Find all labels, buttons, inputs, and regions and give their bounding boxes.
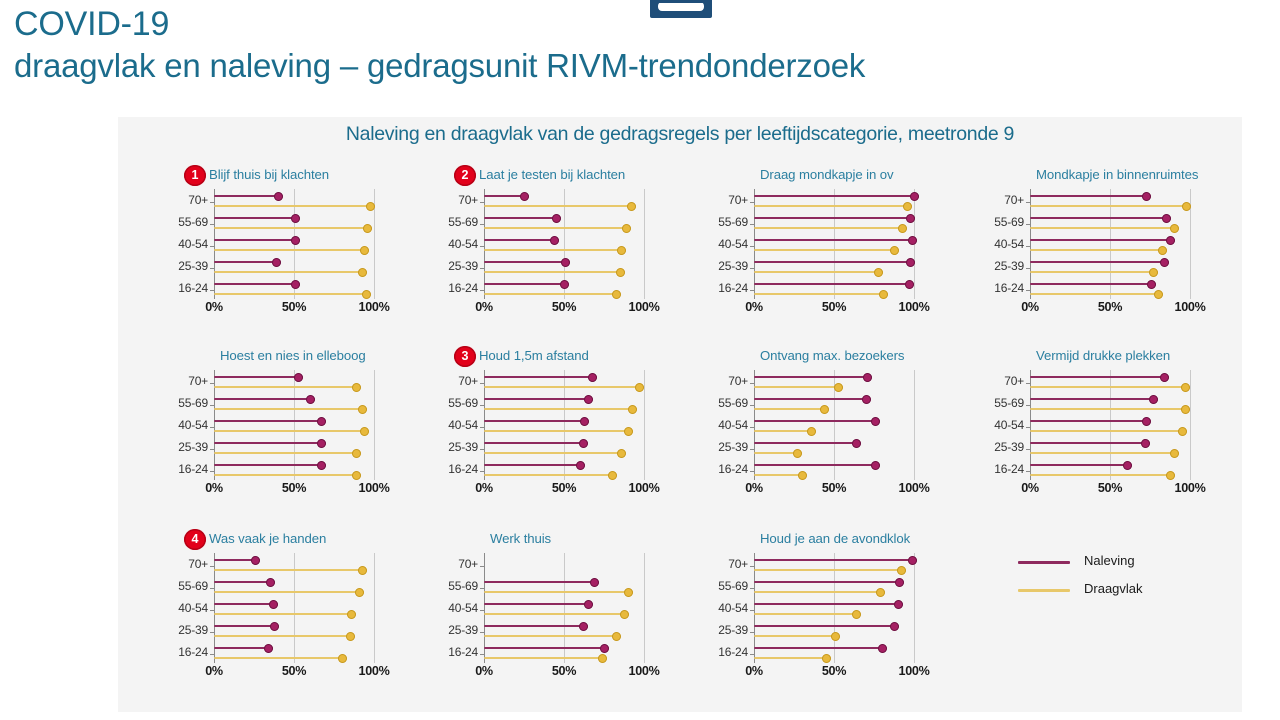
draagvlak-bar (754, 452, 797, 454)
naleving-bar (754, 195, 914, 197)
y-axis-tick (750, 202, 754, 203)
naleving-dot (291, 214, 300, 223)
panel-plot: 70+55-6940-5425-3916-240%50%100% (956, 189, 1224, 317)
naleving-bar (214, 581, 270, 583)
x-axis-label: 50% (812, 300, 856, 314)
y-axis-tick (750, 610, 754, 611)
naleving-dot (905, 280, 914, 289)
draagvlak-bar (754, 271, 879, 273)
y-axis-label: 40-54 (148, 418, 208, 432)
draagvlak-bar (754, 613, 856, 615)
y-axis-tick (480, 610, 484, 611)
draagvlak-bar (484, 271, 620, 273)
draagvlak-dot (358, 566, 367, 575)
naleving-dot (291, 280, 300, 289)
y-axis-label: 25-39 (964, 259, 1024, 273)
y-axis-label: 25-39 (964, 440, 1024, 454)
panel-plot: 70+55-6940-5425-3916-240%50%100% (140, 370, 408, 498)
draagvlak-dot (360, 246, 369, 255)
y-axis-label: 40-54 (418, 601, 478, 615)
naleving-bar (214, 559, 256, 561)
draagvlak-bar (214, 293, 366, 295)
y-axis-tick (750, 471, 754, 472)
y-axis-label: 16-24 (418, 645, 478, 659)
x-axis-label: 100% (1168, 300, 1212, 314)
draagvlak-bar (484, 293, 617, 295)
draagvlak-dot (617, 246, 626, 255)
draagvlak-dot (612, 632, 621, 641)
panel-header: Werk thuis (410, 529, 678, 553)
y-axis-tick (1026, 449, 1030, 450)
naleving-bar (214, 464, 321, 466)
naleving-bar (484, 398, 588, 400)
naleving-bar (484, 464, 580, 466)
panel-badge: 4 (184, 529, 206, 550)
naleving-bar (754, 420, 876, 422)
title-line-primary: COVID-19 (14, 4, 865, 44)
naleving-dot (270, 622, 279, 631)
draagvlak-dot (1170, 449, 1179, 458)
naleving-bar (214, 647, 268, 649)
naleving-bar (484, 376, 593, 378)
draagvlak-bar (754, 408, 824, 410)
draagvlak-dot (831, 632, 840, 641)
y-axis-tick (1026, 383, 1030, 384)
naleving-dot (890, 622, 899, 631)
draagvlak-bar (1030, 386, 1185, 388)
chart-panel: 3Houd 1,5m afstand70+55-6940-5425-3916-2… (410, 346, 678, 522)
draagvlak-bar (214, 271, 363, 273)
x-axis-label: 0% (462, 664, 506, 678)
draagvlak-dot (898, 224, 907, 233)
y-axis-label: 40-54 (688, 237, 748, 251)
y-axis-tick (1026, 427, 1030, 428)
naleving-dot (294, 373, 303, 382)
x-axis-label: 100% (352, 664, 396, 678)
x-axis-label: 50% (812, 664, 856, 678)
y-axis-tick (210, 588, 214, 589)
naleving-dot (584, 395, 593, 404)
naleving-bar (754, 283, 909, 285)
y-axis-tick (480, 632, 484, 633)
naleving-dot (852, 439, 861, 448)
draagvlak-bar (484, 408, 633, 410)
naleving-bar (1030, 398, 1153, 400)
draagvlak-dot (1158, 246, 1167, 255)
y-axis-tick (750, 383, 754, 384)
draagvlak-dot (1178, 427, 1187, 436)
draagvlak-dot (366, 202, 375, 211)
naleving-bar (1030, 376, 1164, 378)
chart-board: Naleving en draagvlak van de gedragsrege… (118, 117, 1242, 712)
draagvlak-dot (624, 588, 633, 597)
y-axis-label: 16-24 (418, 281, 478, 295)
y-axis-label: 40-54 (688, 601, 748, 615)
y-axis-label: 70+ (148, 557, 208, 571)
x-axis-label: 50% (272, 300, 316, 314)
y-axis-tick (210, 405, 214, 406)
y-axis-label: 70+ (418, 193, 478, 207)
y-axis-tick (1026, 290, 1030, 291)
naleving-bar (484, 603, 588, 605)
draagvlak-dot (1170, 224, 1179, 233)
panel-title: Ontvang max. bezoekers (760, 348, 904, 363)
draagvlak-dot (363, 224, 372, 233)
draagvlak-bar (214, 430, 364, 432)
draagvlak-dot (635, 383, 644, 392)
y-axis-label: 25-39 (148, 259, 208, 273)
y-axis-label: 55-69 (148, 396, 208, 410)
panel-plot: 70+55-6940-5425-3916-240%50%100% (140, 189, 408, 317)
x-axis-label: 0% (1008, 300, 1052, 314)
draagvlak-dot (355, 588, 364, 597)
draagvlak-dot (852, 610, 861, 619)
draagvlak-bar (484, 452, 622, 454)
naleving-bar (484, 217, 556, 219)
y-axis-label: 55-69 (418, 396, 478, 410)
draagvlak-dot (352, 471, 361, 480)
y-axis-tick (480, 654, 484, 655)
naleving-bar (754, 625, 895, 627)
naleving-bar (1030, 442, 1145, 444)
panel-header: Mondkapje in binnenruimtes (956, 165, 1224, 189)
naleving-bar (1030, 195, 1147, 197)
chart-panel: Werk thuis70+55-6940-5425-3916-240%50%10… (410, 529, 678, 705)
naleving-dot (1141, 439, 1150, 448)
x-axis-label: 0% (1008, 481, 1052, 495)
panel-plot: 70+55-6940-5425-3916-240%50%100% (140, 553, 408, 681)
draagvlak-bar (214, 635, 350, 637)
x-axis-label: 0% (192, 481, 236, 495)
x-axis-label: 100% (352, 300, 396, 314)
naleving-bar (214, 239, 296, 241)
naleving-dot (266, 578, 275, 587)
y-axis-label: 55-69 (148, 215, 208, 229)
y-axis-tick (210, 566, 214, 567)
chart-panel: 1Blijf thuis bij klachten70+55-6940-5425… (140, 165, 408, 341)
x-axis-label: 100% (892, 481, 936, 495)
draagvlak-dot (616, 268, 625, 277)
naleving-bar (484, 625, 583, 627)
legend-label-draagvlak: Draagvlak (1084, 581, 1143, 596)
draagvlak-bar (214, 386, 356, 388)
y-axis-tick (1026, 471, 1030, 472)
naleving-dot (264, 644, 273, 653)
legend-item: Naleving (1018, 549, 1228, 577)
y-axis-label: 40-54 (964, 418, 1024, 432)
x-axis-label: 0% (192, 664, 236, 678)
naleving-dot (894, 600, 903, 609)
draagvlak-bar (484, 386, 639, 388)
y-axis-tick (750, 449, 754, 450)
panel-header: Draag mondkapje in ov (680, 165, 948, 189)
naleving-dot (580, 417, 589, 426)
draagvlak-bar (214, 249, 364, 251)
y-axis-tick (210, 654, 214, 655)
y-axis-label: 16-24 (964, 281, 1024, 295)
x-axis-label: 0% (732, 664, 776, 678)
draagvlak-dot (362, 290, 371, 299)
y-axis-tick (480, 290, 484, 291)
draagvlak-bar (214, 591, 360, 593)
panel-plot: 70+55-6940-5425-3916-240%50%100% (680, 553, 948, 681)
draagvlak-bar (754, 657, 826, 659)
y-axis-tick (480, 268, 484, 269)
y-axis-label: 55-69 (148, 579, 208, 593)
y-axis-label: 55-69 (964, 396, 1024, 410)
gridline (914, 370, 915, 480)
naleving-bar (214, 283, 296, 285)
draagvlak-dot (598, 654, 607, 663)
naleving-dot (895, 578, 904, 587)
panel-title: Draag mondkapje in ov (760, 167, 894, 182)
panel-header: 1Blijf thuis bij klachten (140, 165, 408, 189)
y-axis-tick (210, 449, 214, 450)
draagvlak-bar (1030, 408, 1185, 410)
draagvlak-bar (754, 430, 812, 432)
x-axis-label: 100% (622, 300, 666, 314)
draagvlak-dot (822, 654, 831, 663)
draagvlak-dot (347, 610, 356, 619)
naleving-bar (214, 195, 278, 197)
draagvlak-bar (1030, 293, 1158, 295)
naleving-bar (214, 625, 275, 627)
naleving-bar (214, 603, 273, 605)
panel-badge: 1 (184, 165, 206, 186)
chart-panel: 2Laat je testen bij klachten70+55-6940-5… (410, 165, 678, 341)
naleving-dot (576, 461, 585, 470)
panel-title: Werk thuis (490, 531, 551, 546)
draagvlak-dot (879, 290, 888, 299)
naleving-bar (754, 603, 898, 605)
y-axis-tick (750, 246, 754, 247)
y-axis-tick (210, 471, 214, 472)
y-axis-tick (210, 268, 214, 269)
y-axis-label: 70+ (148, 374, 208, 388)
y-axis-label: 40-54 (148, 237, 208, 251)
chart-panel: Vermijd drukke plekken70+55-6940-5425-39… (956, 346, 1224, 522)
x-axis-label: 100% (892, 300, 936, 314)
naleving-dot (1142, 417, 1151, 426)
draagvlak-bar (484, 591, 628, 593)
y-axis-tick (1026, 405, 1030, 406)
naleving-dot (600, 644, 609, 653)
x-axis-label: 50% (1088, 481, 1132, 495)
chart-panel: Hoest en nies in elleboog70+55-6940-5425… (140, 346, 408, 522)
naleving-bar (484, 283, 564, 285)
draagvlak-bar (1030, 452, 1174, 454)
chart-panel: Houd je aan de avondklok70+55-6940-5425-… (680, 529, 948, 705)
y-axis-tick (750, 566, 754, 567)
gridline (644, 370, 645, 480)
draagvlak-dot (360, 427, 369, 436)
naleving-dot (317, 417, 326, 426)
draagvlak-bar (1030, 205, 1187, 207)
draagvlak-bar (484, 474, 612, 476)
y-axis-label: 70+ (964, 193, 1024, 207)
panel-title: Hoest en nies in elleboog (220, 348, 366, 363)
chart-panel: 4Was vaak je handen70+55-6940-5425-3916-… (140, 529, 408, 705)
y-axis-tick (750, 224, 754, 225)
naleving-bar (754, 581, 900, 583)
naleving-dot (274, 192, 283, 201)
x-axis-label: 50% (542, 300, 586, 314)
y-axis-label: 16-24 (964, 462, 1024, 476)
naleving-dot (1160, 258, 1169, 267)
naleving-dot (317, 439, 326, 448)
x-axis-label: 50% (542, 664, 586, 678)
panel-title: Laat je testen bij klachten (479, 167, 625, 182)
draagvlak-bar (1030, 474, 1171, 476)
y-axis-label: 16-24 (148, 281, 208, 295)
draagvlak-bar (214, 613, 352, 615)
draagvlak-dot (903, 202, 912, 211)
title-line-secondary: draagvlak en naleving – gedragsunit RIVM… (14, 44, 865, 88)
draagvlak-dot (1154, 290, 1163, 299)
y-axis-tick (210, 610, 214, 611)
draagvlak-dot (627, 202, 636, 211)
draagvlak-bar (754, 635, 836, 637)
y-axis-tick (480, 566, 484, 567)
draagvlak-bar (1030, 227, 1174, 229)
x-axis-label: 0% (192, 300, 236, 314)
naleving-bar (1030, 283, 1152, 285)
naleving-dot (579, 439, 588, 448)
legend-label-naleving: Naleving (1084, 553, 1135, 568)
y-axis-label: 25-39 (148, 623, 208, 637)
y-axis-tick (210, 202, 214, 203)
draagvlak-bar (484, 430, 628, 432)
y-axis-tick (480, 471, 484, 472)
naleving-bar (214, 217, 296, 219)
draagvlak-bar (214, 205, 371, 207)
draagvlak-dot (617, 449, 626, 458)
y-axis-label: 25-39 (418, 259, 478, 273)
panel-title: Houd 1,5m afstand (479, 348, 589, 363)
y-axis-label: 70+ (964, 374, 1024, 388)
panel-title: Vermijd drukke plekken (1036, 348, 1170, 363)
draagvlak-dot (358, 405, 367, 414)
draagvlak-dot (820, 405, 829, 414)
draagvlak-dot (890, 246, 899, 255)
legend-swatch-naleving (1018, 561, 1070, 564)
y-axis-tick (480, 588, 484, 589)
chart-panel: Mondkapje in binnenruimtes70+55-6940-542… (956, 165, 1224, 341)
naleving-dot (1166, 236, 1175, 245)
draagvlak-bar (484, 205, 631, 207)
gridline (644, 189, 645, 299)
naleving-bar (214, 261, 276, 263)
naleving-dot (561, 258, 570, 267)
naleving-dot (908, 556, 917, 565)
naleving-bar (754, 261, 911, 263)
x-axis-label: 50% (272, 664, 316, 678)
y-axis-tick (1026, 202, 1030, 203)
draagvlak-dot (834, 383, 843, 392)
y-axis-label: 40-54 (148, 601, 208, 615)
draagvlak-bar (1030, 430, 1182, 432)
draagvlak-bar (214, 474, 356, 476)
draagvlak-bar (754, 293, 884, 295)
draagvlak-dot (1181, 405, 1190, 414)
x-axis-label: 50% (542, 481, 586, 495)
naleving-bar (484, 442, 583, 444)
naleving-dot (584, 600, 593, 609)
y-axis-label: 40-54 (418, 418, 478, 432)
draagvlak-bar (754, 569, 901, 571)
y-axis-tick (480, 427, 484, 428)
draagvlak-dot (622, 224, 631, 233)
x-axis-label: 100% (1168, 481, 1212, 495)
draagvlak-dot (352, 383, 361, 392)
y-axis-label: 55-69 (418, 579, 478, 593)
x-axis-label: 0% (732, 300, 776, 314)
x-axis-label: 100% (892, 664, 936, 678)
x-axis-label: 100% (622, 481, 666, 495)
y-axis-label: 55-69 (418, 215, 478, 229)
draagvlak-dot (352, 449, 361, 458)
draagvlak-bar (1030, 249, 1163, 251)
panel-title: Houd je aan de avondklok (760, 531, 910, 546)
draagvlak-dot (793, 449, 802, 458)
y-axis-label: 16-24 (418, 462, 478, 476)
draagvlak-dot (620, 610, 629, 619)
y-axis-label: 40-54 (688, 418, 748, 432)
y-axis-label: 25-39 (688, 623, 748, 637)
naleving-bar (484, 647, 604, 649)
draagvlak-bar (214, 452, 356, 454)
x-axis-label: 0% (732, 481, 776, 495)
panel-header: 2Laat je testen bij klachten (410, 165, 678, 189)
naleving-dot (550, 236, 559, 245)
naleving-bar (1030, 464, 1128, 466)
y-axis-tick (750, 427, 754, 428)
draagvlak-dot (798, 471, 807, 480)
legend-swatch-draagvlak (1018, 589, 1070, 592)
naleving-dot (590, 578, 599, 587)
panel-header: Ontvang max. bezoekers (680, 346, 948, 370)
naleving-dot (1123, 461, 1132, 470)
draagvlak-bar (484, 249, 622, 251)
y-axis-tick (210, 383, 214, 384)
x-axis-label: 50% (272, 481, 316, 495)
draagvlak-dot (346, 632, 355, 641)
draagvlak-bar (754, 205, 908, 207)
naleving-bar (1030, 239, 1171, 241)
panel-plot: 70+55-6940-5425-3916-240%50%100% (956, 370, 1224, 498)
slide-root: COVID-19 draagvlak en naleving – gedrags… (0, 0, 1280, 720)
gridline (644, 553, 645, 663)
gridline (374, 553, 375, 663)
naleving-bar (754, 442, 856, 444)
y-axis-label: 70+ (418, 557, 478, 571)
naleving-bar (484, 239, 554, 241)
naleving-bar (214, 398, 310, 400)
panel-header: Hoest en nies in elleboog (140, 346, 408, 370)
draagvlak-dot (612, 290, 621, 299)
y-axis-tick (750, 290, 754, 291)
naleving-bar (754, 217, 911, 219)
draagvlak-bar (754, 386, 839, 388)
panel-grid: 1Blijf thuis bij klachten70+55-6940-5425… (118, 161, 1242, 712)
draagvlak-bar (754, 227, 903, 229)
y-axis-label: 70+ (148, 193, 208, 207)
naleving-dot (908, 236, 917, 245)
panel-title: Mondkapje in binnenruimtes (1036, 167, 1198, 182)
y-axis-label: 55-69 (688, 396, 748, 410)
gridline (914, 553, 915, 663)
naleving-dot (906, 214, 915, 223)
